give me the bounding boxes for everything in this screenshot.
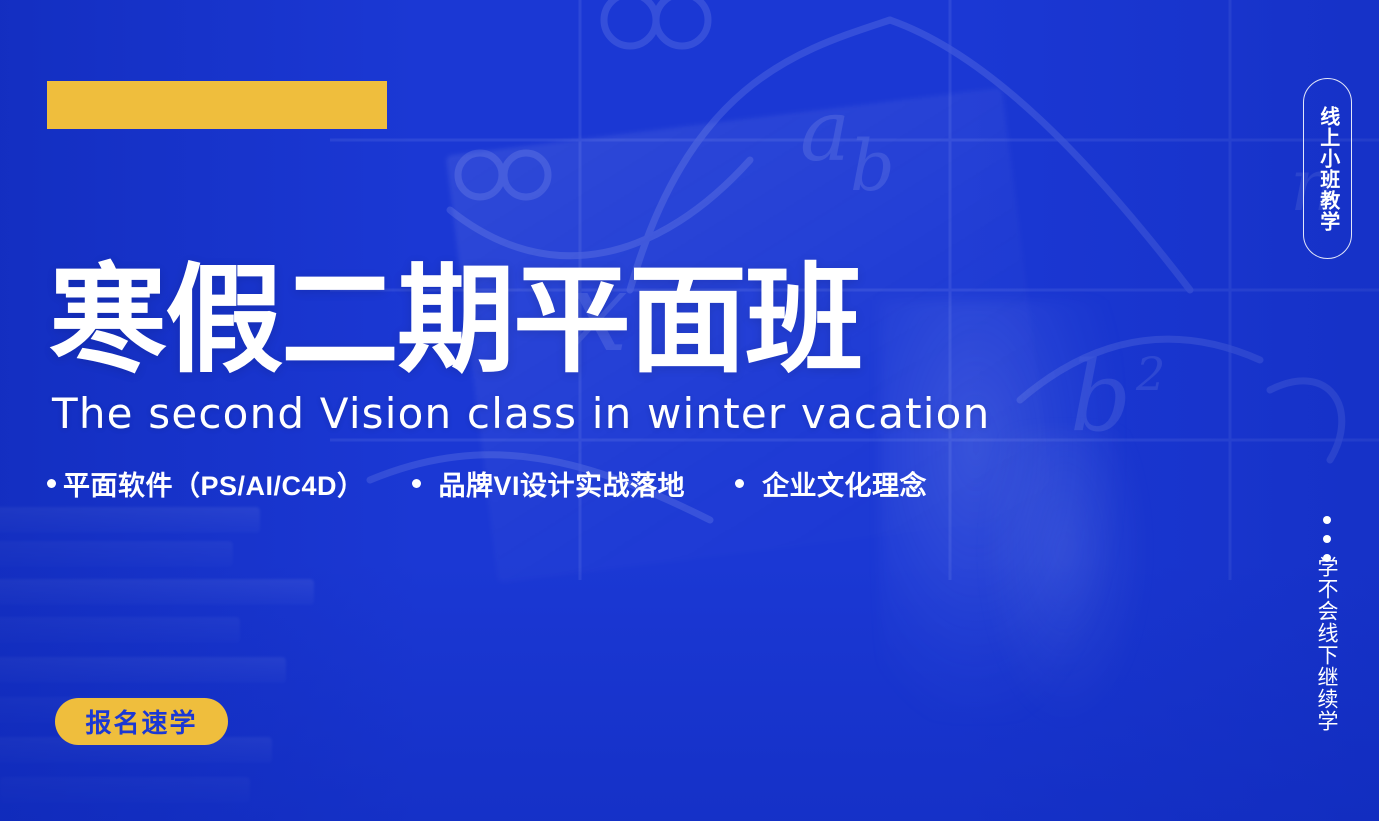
feature-item: 品牌VI设计实战落地 bbox=[412, 464, 686, 503]
feature-item: 平面软件（PS/AI/C4D） bbox=[47, 464, 365, 503]
poster-content: 寒假二期平面班 The second Vision class in winte… bbox=[0, 0, 1379, 821]
online-small-class-badge: 线上小班教学 bbox=[1303, 78, 1352, 259]
online-small-class-label: 线上小班教学 bbox=[1314, 106, 1340, 232]
feature-label: 企业文化理念 bbox=[762, 464, 927, 503]
enroll-button[interactable]: 报名速学 bbox=[55, 698, 228, 745]
dot-icon bbox=[1323, 516, 1331, 524]
poster-canvas: a b b 2 x n bbox=[0, 0, 1379, 821]
logo-placeholder-block bbox=[47, 81, 387, 129]
feature-label: 平面软件（PS/AI/C4D） bbox=[63, 464, 365, 503]
page-subtitle: The second Vision class in winter vacati… bbox=[52, 392, 990, 436]
dot-icon bbox=[1323, 535, 1331, 543]
feature-list: 平面软件（PS/AI/C4D） 品牌VI设计实战落地 企业文化理念 bbox=[47, 464, 927, 503]
feature-label: 品牌VI设计实战落地 bbox=[439, 464, 686, 503]
feature-item: 企业文化理念 bbox=[735, 464, 927, 503]
bullet-dot-icon bbox=[735, 479, 744, 488]
bullet-dot-icon bbox=[47, 479, 56, 488]
bullet-dot-icon bbox=[412, 479, 421, 488]
page-title: 寒假二期平面班 bbox=[49, 262, 861, 380]
enroll-button-label: 报名速学 bbox=[85, 703, 197, 740]
guarantee-slogan: 学不会线下继续学 bbox=[1311, 556, 1340, 732]
